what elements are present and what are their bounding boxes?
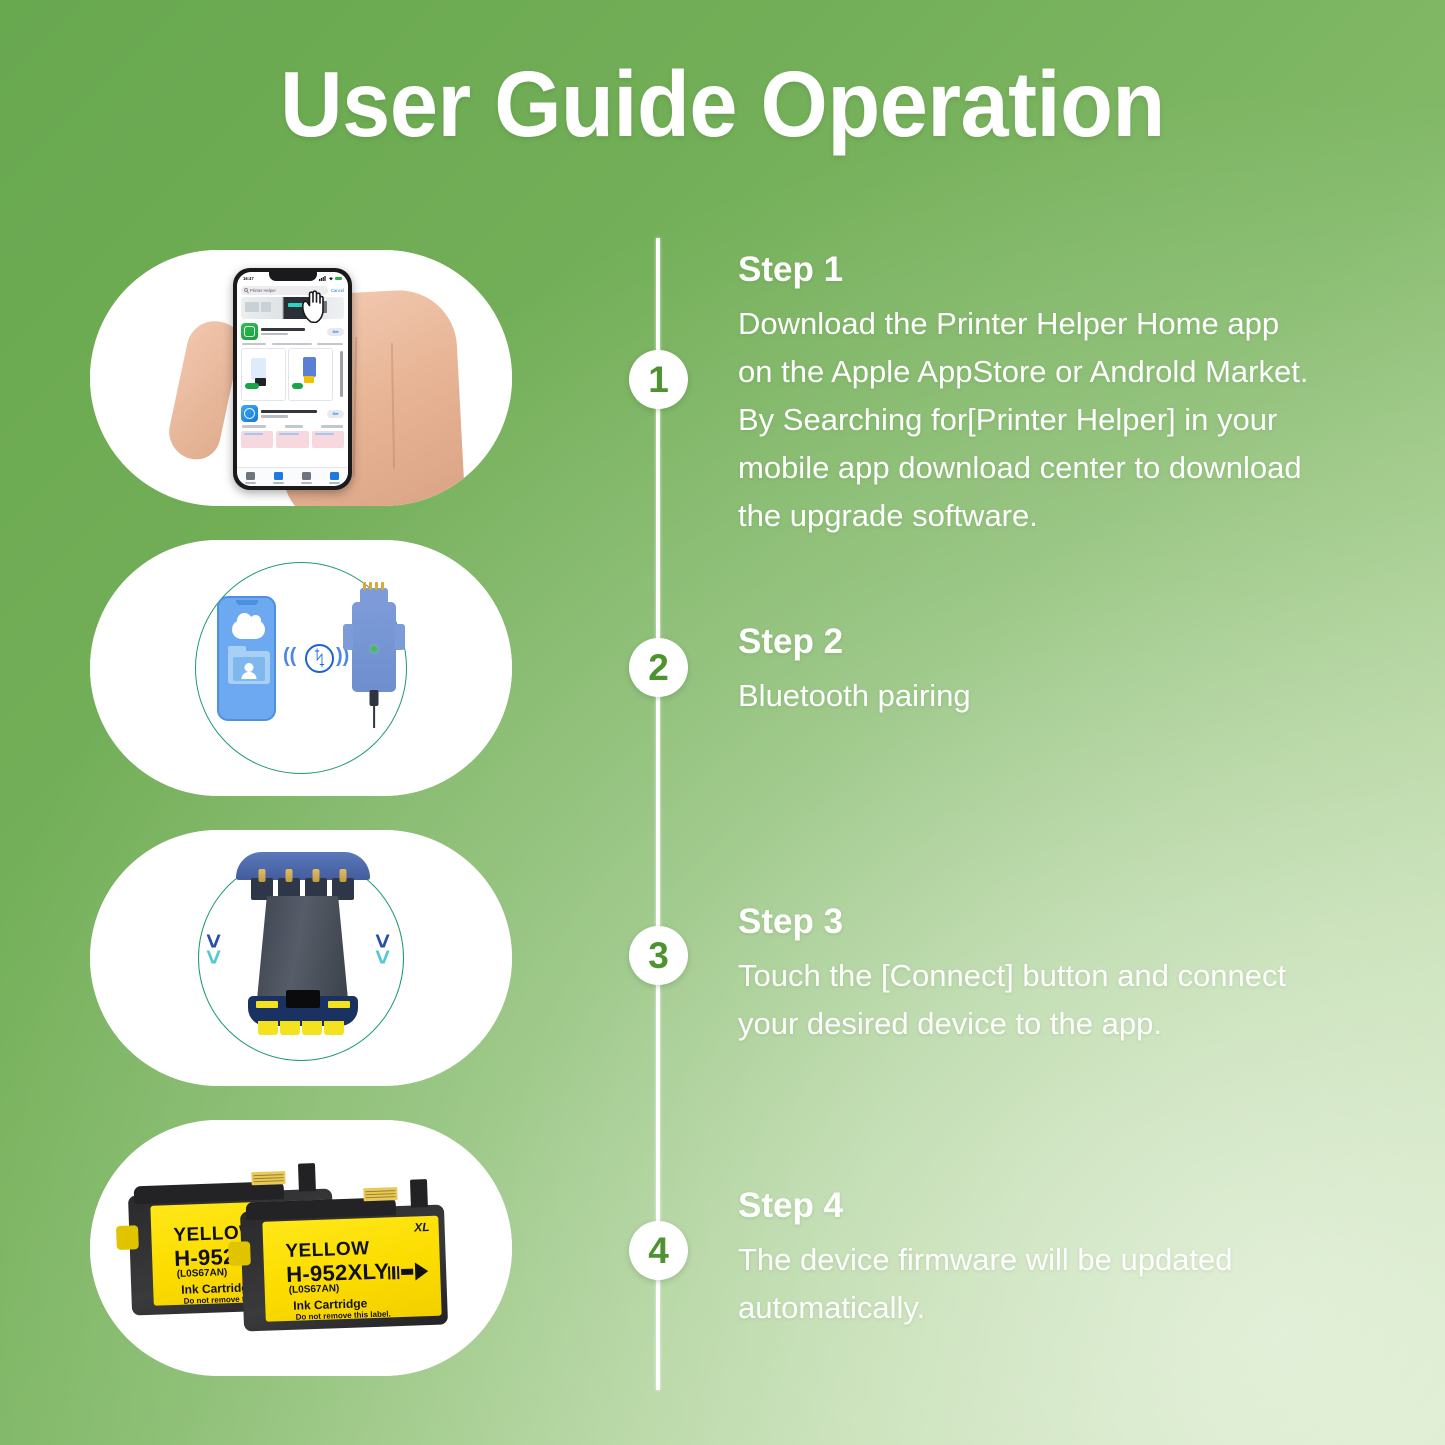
- phone-device: 16:47 Printer Helper Cancel: [233, 268, 352, 490]
- resetter-cap-icon: [236, 852, 370, 880]
- page-title: User Guide Operation: [51, 52, 1395, 156]
- phone-icon: [217, 596, 276, 721]
- tab-today[interactable]: [245, 472, 256, 483]
- phone-notch-icon: [269, 272, 317, 281]
- status-time: 16:47: [243, 276, 254, 281]
- ink-cartridges-illustration: XL YELLOW H-952XLY (L0S67AN) Ink Cartrid…: [90, 1120, 512, 1376]
- step-1-line-1: Download the Printer Helper Home app: [738, 300, 1418, 348]
- step-badge-3: 3: [629, 926, 688, 985]
- search-value: Printer Helper: [250, 288, 276, 293]
- pointing-hand-cursor-icon: [299, 289, 329, 323]
- get-button-1[interactable]: Get: [327, 328, 344, 336]
- step-1-title: Step 1: [738, 250, 1418, 290]
- step-3-image-panel: ˅˅ ˅˅: [90, 830, 512, 1086]
- thumb-icon: [164, 316, 244, 464]
- step-2-image-panel: (( ᛪ )): [90, 540, 512, 796]
- step-3-body: Touch the [Connect] button and connect y…: [738, 952, 1418, 1048]
- battery-icon: [335, 277, 342, 281]
- chevron-down-right-icon: ˅˅: [375, 933, 390, 965]
- step-4-line-2: automatically.: [738, 1284, 1418, 1332]
- app-result-row[interactable]: Get: [241, 323, 344, 340]
- status-led-icon: [371, 646, 377, 652]
- step-2-line-1: Bluetooth pairing: [738, 672, 1418, 720]
- get-button-2[interactable]: Get: [327, 410, 344, 418]
- step-1-image-panel: 16:47 Printer Helper Cancel: [90, 250, 512, 506]
- step-3-text: Step 3 Touch the [Connect] button and co…: [738, 902, 1418, 1048]
- timeline-line: [656, 238, 660, 1390]
- step-1-line-2: on the Apple AppStore or Androld Market.: [738, 348, 1418, 396]
- step-1-line-3: By Searching for[Printer Helper] in your: [738, 396, 1418, 444]
- cancel-link[interactable]: Cancel: [331, 288, 344, 293]
- step-2-title: Step 2: [738, 622, 1418, 662]
- step-3-line-1: Touch the [Connect] button and connect: [738, 952, 1418, 1000]
- screenshot-1[interactable]: [241, 348, 286, 401]
- screenshot-scrollbar[interactable]: [335, 348, 344, 401]
- app-meta-row: [242, 425, 343, 427]
- chip-resetter-device-icon: [352, 602, 396, 692]
- tab-search[interactable]: [329, 472, 340, 483]
- tab-apps[interactable]: [301, 472, 312, 483]
- direction-arrow-icon: [387, 1262, 428, 1281]
- step-4-image-panel: XL YELLOW H-952XLY (L0S67AN) Ink Cartrid…: [90, 1120, 512, 1376]
- step-badge-2: 2: [629, 638, 688, 697]
- step-4-line-1: The device firmware will be updated: [738, 1236, 1418, 1284]
- step-badge-4: 4: [629, 1221, 688, 1280]
- ink-cartridge-front: XL YELLOW H-952XLY (L0S67AN) Ink Cartrid…: [240, 1204, 448, 1331]
- signal-wave-left-icon: ((: [283, 646, 296, 666]
- printer-helper-smart-printer-app-icon: [241, 405, 258, 422]
- screenshot-5[interactable]: [312, 431, 344, 448]
- user-guide-page: User Guide Operation 1 2 3 4 16:47: [0, 0, 1445, 1445]
- tab-games[interactable]: [273, 472, 284, 483]
- cartridge-code-label: (L0S67AN): [289, 1283, 340, 1296]
- cloud-icon: [232, 620, 265, 639]
- app-name-block: [261, 328, 324, 336]
- cartridge-chip-icon: [248, 996, 358, 1026]
- step-4-text: Step 4 The device firmware will be updat…: [738, 1186, 1418, 1332]
- hand-phone-illustration: 16:47 Printer Helper Cancel: [90, 250, 512, 506]
- wifi-icon: [328, 276, 334, 281]
- step-badge-1: 1: [629, 350, 688, 409]
- step-4-title: Step 4: [738, 1186, 1418, 1226]
- bluetooth-pairing-illustration: (( ᛪ )): [90, 540, 512, 796]
- step-1-line-5: the upgrade software.: [738, 492, 1418, 540]
- app-meta-row: [242, 343, 343, 345]
- app-result-row[interactable]: Get: [241, 405, 344, 422]
- phone-screen: 16:47 Printer Helper Cancel: [237, 272, 348, 486]
- step-1-line-4: mobile app download center to download: [738, 444, 1418, 492]
- app-screenshots[interactable]: [241, 348, 344, 401]
- cartridge-code-label: (L0S67AN): [177, 1267, 228, 1280]
- phone-notch-icon: [236, 600, 258, 605]
- cable-icon: [373, 704, 375, 728]
- step-1-text: Step 1 Download the Printer Helper Home …: [738, 250, 1418, 540]
- app-results-list: Get: [241, 323, 344, 448]
- app-screenshots-2[interactable]: [241, 431, 344, 448]
- step-1-body: Download the Printer Helper Home app on …: [738, 300, 1418, 540]
- phone-tab-bar[interactable]: [237, 467, 348, 486]
- step-3-title: Step 3: [738, 902, 1418, 942]
- resetter-body-icon: [253, 896, 352, 1000]
- screenshot-4[interactable]: [276, 431, 308, 448]
- bluetooth-icon: ᛪ: [305, 644, 334, 673]
- xl-badge: XL: [414, 1220, 430, 1235]
- step-2-body: Bluetooth pairing: [738, 672, 1418, 720]
- step-3-line-2: your desired device to the app.: [738, 1000, 1418, 1048]
- chevron-down-left-icon: ˅˅: [206, 933, 221, 965]
- chip-resetter-illustration: ˅˅ ˅˅: [90, 830, 512, 1086]
- app-folder-icon: [228, 651, 270, 684]
- search-icon: [244, 288, 248, 292]
- screenshot-3[interactable]: [241, 431, 273, 448]
- user-avatar-icon: [245, 663, 254, 672]
- printer-helper-app-icon: [241, 323, 258, 340]
- screenshot-2[interactable]: [288, 348, 333, 401]
- app-name-block: [261, 410, 324, 418]
- cellular-signal-icon: [319, 276, 326, 281]
- step-4-body: The device firmware will be updated auto…: [738, 1236, 1418, 1332]
- step-2-text: Step 2 Bluetooth pairing: [738, 622, 1418, 720]
